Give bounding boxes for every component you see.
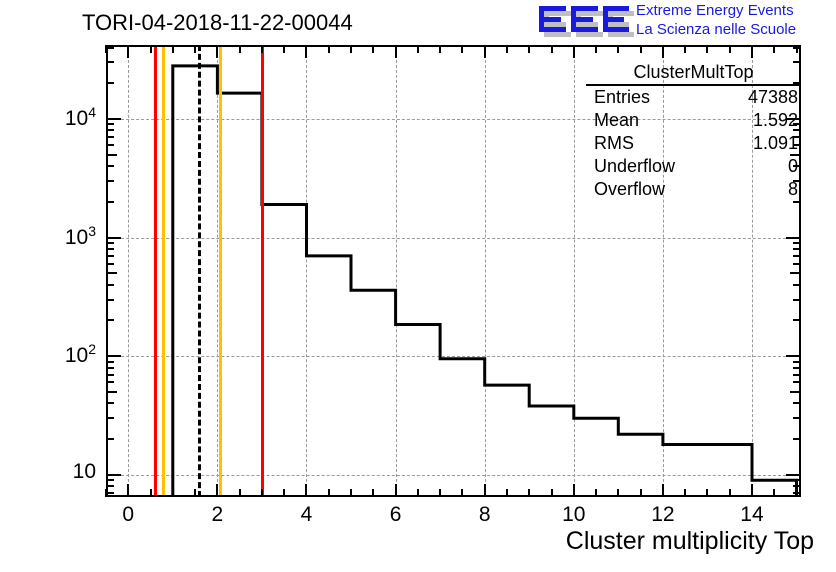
- x-tick: [439, 45, 441, 53]
- y-tick: [106, 492, 114, 494]
- y-tick: [106, 129, 114, 131]
- y-tick: [106, 299, 114, 301]
- x-tick-label: 4: [276, 503, 336, 527]
- x-tick: [328, 45, 330, 53]
- x-tick-label: 0: [98, 503, 158, 527]
- y-tick: [790, 391, 801, 393]
- stats-row: Mean1.592: [586, 109, 801, 132]
- y-tick: [106, 165, 114, 167]
- x-tick: [751, 45, 753, 58]
- x-tick: [706, 45, 708, 53]
- y-tick: [106, 474, 121, 476]
- eee-logo: Extreme Energy Events La Scienza nelle S…: [538, 1, 834, 41]
- stats-row-key: RMS: [594, 133, 634, 154]
- y-tick: [106, 118, 121, 120]
- y-tick: [793, 284, 801, 286]
- y-tick: [106, 417, 114, 419]
- y-tick: [106, 402, 114, 404]
- stats-row-value: 8: [788, 179, 798, 200]
- y-tick: [793, 201, 801, 203]
- y-tick: [793, 248, 801, 250]
- y-tick: [106, 248, 114, 250]
- y-tick: [793, 479, 801, 481]
- stats-rows: Entries47388Mean1.592RMS1.091Underflow0O…: [586, 86, 801, 201]
- x-tick: [551, 489, 553, 497]
- x-tick: [261, 45, 263, 53]
- x-tick: [506, 45, 508, 53]
- y-tick: [106, 374, 114, 376]
- y-tick-label: 10: [34, 460, 96, 484]
- x-tick: [150, 45, 152, 53]
- eee-logo-line2: La Scienza nelle Scuole: [636, 20, 834, 39]
- x-tick: [350, 489, 352, 497]
- y-tick: [106, 255, 114, 257]
- x-tick-label: 10: [544, 503, 604, 527]
- y-tick: [106, 82, 114, 84]
- x-tick: [595, 45, 597, 53]
- x-tick: [150, 489, 152, 497]
- eee-logo-mark: [538, 2, 634, 40]
- x-tick: [528, 489, 530, 497]
- x-tick-label: 14: [722, 503, 782, 527]
- y-tick: [793, 361, 801, 363]
- x-tick: [751, 484, 753, 497]
- y-tick: [106, 242, 114, 244]
- x-tick: [573, 45, 575, 58]
- y-tick: [793, 485, 801, 487]
- x-tick: [461, 489, 463, 497]
- stats-row-key: Entries: [594, 87, 650, 108]
- y-tick: [106, 136, 114, 138]
- y-tick: [106, 180, 114, 182]
- stats-row-value: 0: [788, 156, 798, 177]
- x-tick: [239, 489, 241, 497]
- x-tick-label: 12: [633, 503, 693, 527]
- y-tick: [793, 319, 801, 321]
- x-tick: [328, 489, 330, 497]
- y-tick: [106, 355, 121, 357]
- x-tick: [617, 45, 619, 53]
- x-tick: [617, 489, 619, 497]
- x-tick: [305, 45, 307, 58]
- y-tick: [786, 474, 801, 476]
- y-tick: [793, 263, 801, 265]
- stats-row: Entries47388: [586, 86, 801, 109]
- page-title: TORI-04-2018-11-22-00044: [82, 10, 353, 36]
- y-tick: [106, 391, 117, 393]
- x-tick: [172, 489, 174, 497]
- y-tick: [106, 485, 114, 487]
- x-tick: [595, 489, 597, 497]
- x-tick: [484, 45, 486, 58]
- y-tick: [793, 367, 801, 369]
- x-tick-label: 8: [455, 503, 515, 527]
- x-tick: [684, 45, 686, 53]
- y-tick: [106, 201, 114, 203]
- x-tick: [662, 45, 664, 58]
- x-tick: [305, 484, 307, 497]
- x-tick: [773, 45, 775, 53]
- stats-row-key: Underflow: [594, 156, 675, 177]
- x-tick: [684, 489, 686, 497]
- x-tick: [127, 45, 129, 58]
- y-tick: [793, 242, 801, 244]
- x-tick-label: 2: [187, 503, 247, 527]
- x-tick: [484, 484, 486, 497]
- x-tick: [417, 45, 419, 53]
- y-tick-label: 102: [34, 341, 96, 368]
- x-tick: [216, 45, 218, 58]
- y-tick: [106, 61, 114, 63]
- y-tick: [106, 438, 114, 440]
- stats-title: ClusterMultTop: [586, 62, 801, 86]
- eee-logo-line1: Extreme Energy Events: [636, 1, 834, 20]
- y-tick: [786, 237, 801, 239]
- y-tick: [106, 367, 114, 369]
- y-tick: [106, 237, 121, 239]
- stats-row: RMS1.091: [586, 132, 801, 155]
- stats-row-value: 1.592: [753, 110, 798, 131]
- x-tick: [372, 489, 374, 497]
- y-tick: [106, 263, 114, 265]
- stats-row: Overflow8: [586, 178, 801, 201]
- y-tick: [106, 284, 114, 286]
- x-tick: [372, 45, 374, 53]
- y-tick: [786, 355, 801, 357]
- x-tick: [662, 484, 664, 497]
- eee-logo-text: Extreme Energy Events La Scienza nelle S…: [636, 1, 834, 41]
- y-tick: [106, 154, 117, 156]
- eee-letters-icon: [538, 2, 634, 40]
- y-tick: [106, 123, 114, 125]
- y-tick: [106, 381, 114, 383]
- x-tick: [283, 45, 285, 53]
- stats-row-value: 1.091: [753, 133, 798, 154]
- x-tick: [395, 484, 397, 497]
- y-tick-label: 103: [34, 223, 96, 250]
- stats-row: Underflow0: [586, 155, 801, 178]
- x-tick: [773, 489, 775, 497]
- x-axis-title: Cluster multiplicity Top: [566, 527, 814, 556]
- y-tick: [106, 319, 114, 321]
- y-tick: [793, 255, 801, 257]
- x-tick: [194, 45, 196, 53]
- y-tick: [793, 381, 801, 383]
- y-tick: [106, 479, 114, 481]
- x-tick: [573, 484, 575, 497]
- x-tick: [528, 45, 530, 53]
- x-tick: [127, 484, 129, 497]
- x-tick: [261, 489, 263, 497]
- stats-box: ClusterMultTop Entries47388Mean1.592RMS1…: [586, 62, 801, 201]
- y-tick: [793, 374, 801, 376]
- stats-row-key: Overflow: [594, 179, 665, 200]
- x-tick: [283, 489, 285, 497]
- x-tick: [439, 489, 441, 497]
- y-tick: [793, 47, 801, 49]
- y-tick: [106, 361, 114, 363]
- y-tick: [106, 47, 114, 49]
- x-tick: [729, 45, 731, 53]
- x-tick: [640, 489, 642, 497]
- y-tick: [793, 417, 801, 419]
- x-tick: [216, 484, 218, 497]
- y-tick: [790, 272, 801, 274]
- x-tick: [461, 45, 463, 53]
- x-tick: [194, 489, 196, 497]
- y-tick: [106, 144, 114, 146]
- y-tick-label: 104: [34, 104, 96, 131]
- x-tick: [506, 489, 508, 497]
- y-tick: [793, 492, 801, 494]
- x-tick: [729, 489, 731, 497]
- x-tick: [239, 45, 241, 53]
- x-tick: [640, 45, 642, 53]
- canvas: TORI-04-2018-11-22-00044: [0, 0, 836, 572]
- y-tick: [793, 402, 801, 404]
- x-tick: [395, 45, 397, 58]
- x-tick: [350, 45, 352, 53]
- x-tick: [551, 45, 553, 53]
- stats-row-value: 47388: [748, 87, 798, 108]
- x-tick: [172, 45, 174, 53]
- y-tick: [793, 299, 801, 301]
- x-tick: [706, 489, 708, 497]
- stats-row-key: Mean: [594, 110, 639, 131]
- x-tick-label: 6: [366, 503, 426, 527]
- y-tick: [106, 272, 117, 274]
- y-tick: [793, 438, 801, 440]
- x-tick: [417, 489, 419, 497]
